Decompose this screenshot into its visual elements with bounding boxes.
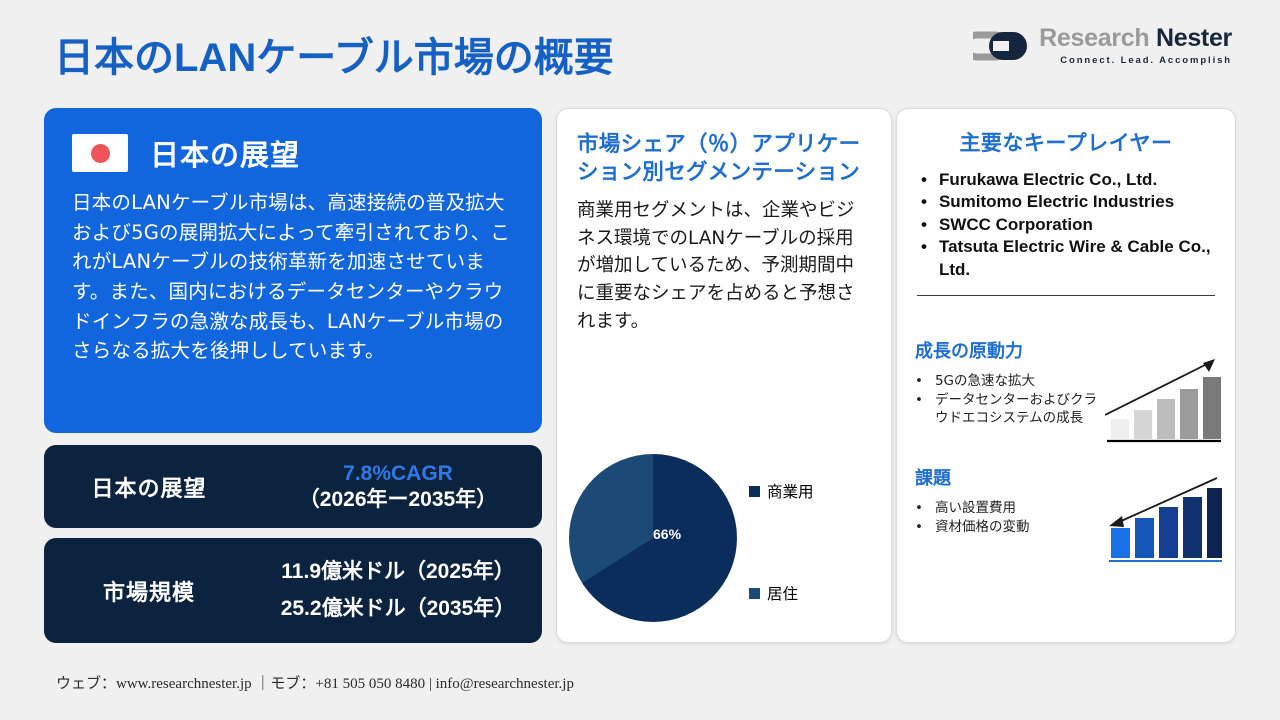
cagr-values: 7.8%CAGR （2026年ー2035年） [254,461,542,512]
footer-contact-info: ウェブ：www.researchnester.jp ｜モブ：+81 505 05… [56,672,574,693]
section-divider [917,295,1215,296]
key-players-list: • Furukawa Electric Co., Ltd. • Sumitomo… [915,169,1217,281]
market-share-title: 市場シェア（％）アプリケーション別セグメンテーション [577,131,871,187]
list-item: • Tatsuta Electric Wire & Cable Co., Ltd… [921,236,1217,281]
list-item: • Furukawa Electric Co., Ltd. [921,169,1217,191]
ascending-bar-chart-up-arrow-icon [1105,353,1223,445]
list-item: • 資材価格の変動 [915,518,1100,537]
list-item: • データセンターおよびクラウドエコシステムの成長 [915,391,1100,428]
list-item: • 高い設置費用 [915,499,1100,518]
growth-drivers-section: 成長の原動力 • 5Gの急速な拡大 • データセンターおよびクラウドエコシステム… [915,337,1219,428]
bullet-icon: • [915,499,923,518]
pie-chart: 66% 商業用 居住 [557,454,893,634]
market-size-values: 11.9億米ドル（2025年） 25.2億米ドル（2035年） [254,554,542,626]
bullet-icon: • [915,391,923,410]
key-players-card: 主要なキープレイヤー • Furukawa Electric Co., Ltd.… [896,108,1236,643]
research-nester-logo: Research Nester Connect. Lead. Accomplis… [973,26,1232,66]
challenge-text: 高い設置費用 [935,499,1016,518]
cagr-label: 日本の展望 [44,471,254,503]
growth-driver-text: 5Gの急速な拡大 [935,372,1035,391]
bullet-icon: • [921,191,927,213]
list-item: • Sumitomo Electric Industries [921,191,1217,213]
challenge-text: 資材価格の変動 [935,518,1030,537]
legend-label-residential: 居住 [767,582,798,604]
japan-outlook-card: 日本の展望 日本のLANケーブル市場は、高速接続の普及拡大および5Gの展開拡大に… [44,108,542,433]
legend-swatch-residential [749,588,760,599]
challenges-section: 課題 • 高い設置費用 • 資材価格の変動 [915,464,1219,536]
challenges-list: • 高い設置費用 • 資材価格の変動 [915,499,1100,536]
outlook-title: 日本の展望 [150,132,300,174]
cagr-stat-card: 日本の展望 7.8%CAGR （2026年ー2035年） [44,445,542,528]
bullet-icon: • [915,372,923,391]
legend-item-residential: 居住 [749,582,798,604]
key-players-title: 主要なキープレイヤー [915,127,1217,157]
logo-tagline: Connect. Lead. Accomplish [1039,56,1232,66]
logo-word-nester: Nester [1156,24,1232,52]
bullet-icon: • [921,214,927,236]
page-title: 日本のLANケーブル市場の概要 [54,25,614,83]
logo-title: Research Nester [1039,26,1232,51]
bullet-icon: • [921,169,927,191]
market-size-2025: 11.9億米ドル（2025年） [254,554,542,590]
key-player-name: Furukawa Electric Co., Ltd. [939,169,1157,191]
list-item: • 5Gの急速な拡大 [915,372,1100,391]
outlook-header: 日本の展望 [72,132,514,174]
market-size-2035: 25.2億米ドル（2035年） [254,591,542,627]
key-player-name: Sumitomo Electric Industries [939,191,1174,213]
list-item: • SWCC Corporation [921,214,1217,236]
legend-item-commercial: 商業用 [749,480,814,502]
left-column: 日本の展望 日本のLANケーブル市場は、高速接続の普及拡大および5Gの展開拡大に… [44,108,542,643]
logo-mark-icon [973,29,1029,63]
growth-drivers-list: • 5Gの急速な拡大 • データセンターおよびクラウドエコシステムの成長 [915,372,1100,428]
bullet-icon: • [921,236,927,258]
growth-driver-text: データセンターおよびクラウドエコシステムの成長 [935,391,1100,428]
bullet-icon: • [915,518,923,537]
market-share-card: 市場シェア（％）アプリケーション別セグメンテーション 商業用セグメントは、企業や… [556,108,892,643]
market-size-stat-card: 市場規模 11.9億米ドル（2025年） 25.2億米ドル（2035年） [44,538,542,643]
legend-swatch-commercial [749,486,760,497]
market-size-label: 市場規模 [44,575,254,607]
key-player-name: SWCC Corporation [939,214,1093,236]
key-player-name: Tatsuta Electric Wire & Cable Co., Ltd. [939,236,1217,281]
logo-word-research: Research [1039,24,1149,52]
outlook-body-text: 日本のLANケーブル市場は、高速接続の普及拡大および5Gの展開拡大によって牽引さ… [72,188,514,366]
cagr-period: （2026年ー2035年） [254,487,542,513]
cagr-value: 7.8%CAGR [254,461,542,487]
ascending-bar-chart-down-arrow-icon [1105,474,1223,566]
pie-slice-value-commercial: 66% [653,526,681,542]
page-header: 日本のLANケーブル市場の概要 Research Nester Connect.… [0,0,1280,100]
market-share-body-text: 商業用セグメントは、企業やビジネス環境でのLANケーブルの採用が増加しているため… [577,197,871,336]
japan-flag-icon [72,134,128,172]
legend-label-commercial: 商業用 [767,480,814,502]
